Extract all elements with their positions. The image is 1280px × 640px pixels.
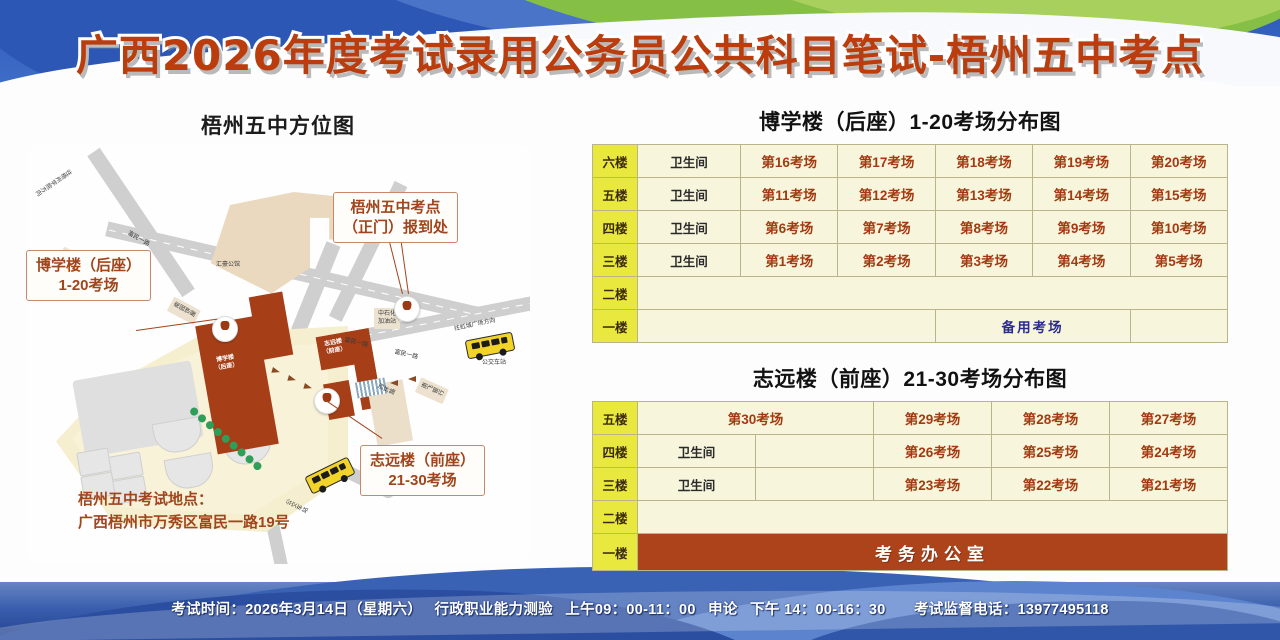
footer-exam-time: 考试时间：2026年3月14日（星期六）: [171, 602, 422, 618]
empty-cell: [638, 310, 936, 343]
floor-label: 一楼: [593, 310, 638, 343]
footer-hotline: 考试监督电话：13977495118: [914, 602, 1109, 618]
footer-info: 考试时间：2026年3月14日（星期六） 行政职业能力测验 上午09：00-11…: [0, 598, 1280, 619]
exam-room-cell: 第26考场: [874, 435, 992, 468]
callout-bowen-line2: 1-20考场: [36, 276, 141, 296]
exam-room-cell: 第10考场: [1130, 211, 1227, 244]
exam-office-cell: 考务办公室: [638, 534, 1228, 571]
callout-bowen: 博学楼（后座） 1-20考场: [26, 250, 151, 301]
table-row: 四楼卫生间第6考场第7考场第8考场第9考场第10考场: [593, 211, 1228, 244]
label-bus-stop-2: 公交车站: [482, 360, 506, 368]
floor-label: 一楼: [593, 534, 638, 571]
callout-gate: 梧州五中考点 （正门）报到处: [333, 192, 458, 243]
table-row: 一楼考务办公室: [593, 534, 1228, 571]
exam-room-table-zhiyuan-body: 五楼第30考场第29考场第28考场第27考场四楼卫生间第26考场第25考场第24…: [593, 402, 1228, 571]
restroom-cell: 卫生间: [638, 244, 741, 277]
map-pin-bowen[interactable]: [212, 316, 238, 342]
table-title-bowen: 博学楼（后座）1-20考场分布图: [560, 106, 1260, 136]
empty-cell: [1130, 310, 1227, 343]
floor-label: 六楼: [593, 145, 638, 178]
footer-time-1: 上午09：00-11：00: [565, 602, 695, 618]
exam-room-cell: 第18考场: [935, 145, 1032, 178]
spare-room-cell: 备用考场: [935, 310, 1130, 343]
exam-room-cell: 第29考场: [874, 402, 992, 435]
table-row: 一楼备用考场: [593, 310, 1228, 343]
exam-room-cell: 第28考场: [992, 402, 1110, 435]
exam-room-cell: 第24考场: [1110, 435, 1228, 468]
exam-room-cell: 第27考场: [1110, 402, 1228, 435]
table-row: 六楼卫生间第16考场第17考场第18考场第19考场第20考场: [593, 145, 1228, 178]
exam-room-cell: 第21考场: [1110, 468, 1228, 501]
exam-room-cell: 第8考场: [935, 211, 1032, 244]
table-row: 五楼第30考场第29考场第28考场第27考场: [593, 402, 1228, 435]
exam-room-table-bowen: 六楼卫生间第16考场第17考场第18考场第19考场第20考场五楼卫生间第11考场…: [592, 144, 1228, 343]
exam-room-cell: 第16考场: [741, 145, 838, 178]
table-row: 二楼: [593, 501, 1228, 534]
exam-room-cell: 第23考场: [874, 468, 992, 501]
exam-room-cell: 第11考场: [741, 178, 838, 211]
restroom-cell: 卫生间: [638, 435, 756, 468]
empty-cell: [638, 277, 1228, 310]
callout-zhiyuan: 志远楼（前座） 21-30考场: [360, 445, 485, 496]
table-row: 四楼卫生间第26考场第25考场第24考场: [593, 435, 1228, 468]
exam-room-table-bowen-body: 六楼卫生间第16考场第17考场第18考场第19考场第20考场五楼卫生间第11考场…: [593, 145, 1228, 343]
restroom-cell: 卫生间: [638, 145, 741, 178]
label-feihang-bank: 南飞银行: [415, 378, 449, 404]
exam-room-cell: 第9考场: [1033, 211, 1130, 244]
exam-room-cell: 第2考场: [838, 244, 935, 277]
table-row: 五楼卫生间第11考场第12考场第13考场第14考场第15考场: [593, 178, 1228, 211]
exam-room-cell: 第15考场: [1130, 178, 1227, 211]
empty-cell: [756, 468, 874, 501]
exam-room-cell: 第25考场: [992, 435, 1110, 468]
exam-address-line2: 广西梧州市万秀区富民一路19号: [78, 511, 290, 534]
callout-gate-line1: 梧州五中考点: [343, 198, 448, 218]
floor-label: 四楼: [593, 211, 638, 244]
map-panel: 梧州五中方位图: [18, 100, 538, 568]
restroom-cell: 卫生间: [638, 178, 741, 211]
exam-room-cell: 第14考场: [1033, 178, 1130, 211]
table-title-zhiyuan: 志远楼（前座）21-30考场分布图: [560, 363, 1260, 393]
exam-room-cell: 第1考场: [741, 244, 838, 277]
poster-title-wrap: 广西2026年度考试录用公务员公共科目笔试-梧州五中考点: [0, 22, 1280, 83]
empty-cell: [638, 501, 1228, 534]
map-heading: 梧州五中方位图: [18, 110, 538, 140]
callout-bowen-line1: 博学楼（后座）: [36, 256, 141, 276]
footer-subject-2: 申论: [708, 602, 738, 618]
footer-subject-1: 行政职业能力测验: [435, 602, 553, 618]
exam-room-cell: 第13考场: [935, 178, 1032, 211]
floor-label: 五楼: [593, 402, 638, 435]
flow-arrow-4: [390, 380, 398, 386]
flow-arrow-5: [408, 376, 416, 382]
exam-room-cell: 第3考场: [935, 244, 1032, 277]
restroom-cell: 卫生间: [638, 211, 741, 244]
label-to-wuzhou-college: 往梧州学院方向: [33, 166, 72, 196]
footer-time-2: 下午 14：00-16：30: [750, 602, 886, 618]
table-row: 三楼卫生间第23考场第22考场第21考场: [593, 468, 1228, 501]
exam-room-cell: 第5考场: [1130, 244, 1227, 277]
tables-column: 博学楼（后座）1-20考场分布图 六楼卫生间第16考场第17考场第18考场第19…: [560, 100, 1260, 571]
exam-address-line1: 梧州五中考试地点：: [78, 488, 290, 511]
table-row: 三楼卫生间第1考场第2考场第3考场第4考场第5考场: [593, 244, 1228, 277]
floor-label: 四楼: [593, 435, 638, 468]
exam-room-cell: 第20考场: [1130, 145, 1227, 178]
exam-room-cell: 第4考场: [1033, 244, 1130, 277]
floor-label: 五楼: [593, 178, 638, 211]
restroom-cell: 卫生间: [638, 468, 756, 501]
label-fumin-road-3: 富民一路: [393, 349, 418, 362]
poster-stage: 广西2026年度考试录用公务员公共科目笔试-梧州五中考点 梧州五中方位图: [0, 0, 1280, 640]
exam-room-cell: 第19考场: [1033, 145, 1130, 178]
floor-label: 三楼: [593, 468, 638, 501]
exam-room-cell: 第12考场: [838, 178, 935, 211]
exam-room-cell: 第6考场: [741, 211, 838, 244]
exam-address: 梧州五中考试地点： 广西梧州市万秀区富民一路19号: [78, 488, 290, 535]
exam-room-cell: 第7考场: [838, 211, 935, 244]
floor-label: 二楼: [593, 501, 638, 534]
exam-room-table-zhiyuan: 五楼第30考场第29考场第28考场第27考场四楼卫生间第26考场第25考场第24…: [592, 401, 1228, 571]
map-pin-gate[interactable]: [394, 296, 420, 322]
exam-room-cell: 第22考场: [992, 468, 1110, 501]
table-row: 二楼: [593, 277, 1228, 310]
poster-title: 广西2026年度考试录用公务员公共科目笔试-梧州五中考点: [76, 22, 1204, 83]
floor-label: 三楼: [593, 244, 638, 277]
callout-gate-line2: （正门）报到处: [343, 218, 448, 238]
callout-zhiyuan-line2: 21-30考场: [370, 471, 475, 491]
exam-room-cell: 第30考场: [638, 402, 874, 435]
exam-room-cell: 第17考场: [838, 145, 935, 178]
bus-icon-2: [465, 332, 516, 360]
empty-cell: [756, 435, 874, 468]
callout-zhiyuan-line1: 志远楼（前座）: [370, 451, 475, 471]
label-huihao-mansion: 汇豪公馆: [216, 262, 240, 270]
floor-label: 二楼: [593, 277, 638, 310]
